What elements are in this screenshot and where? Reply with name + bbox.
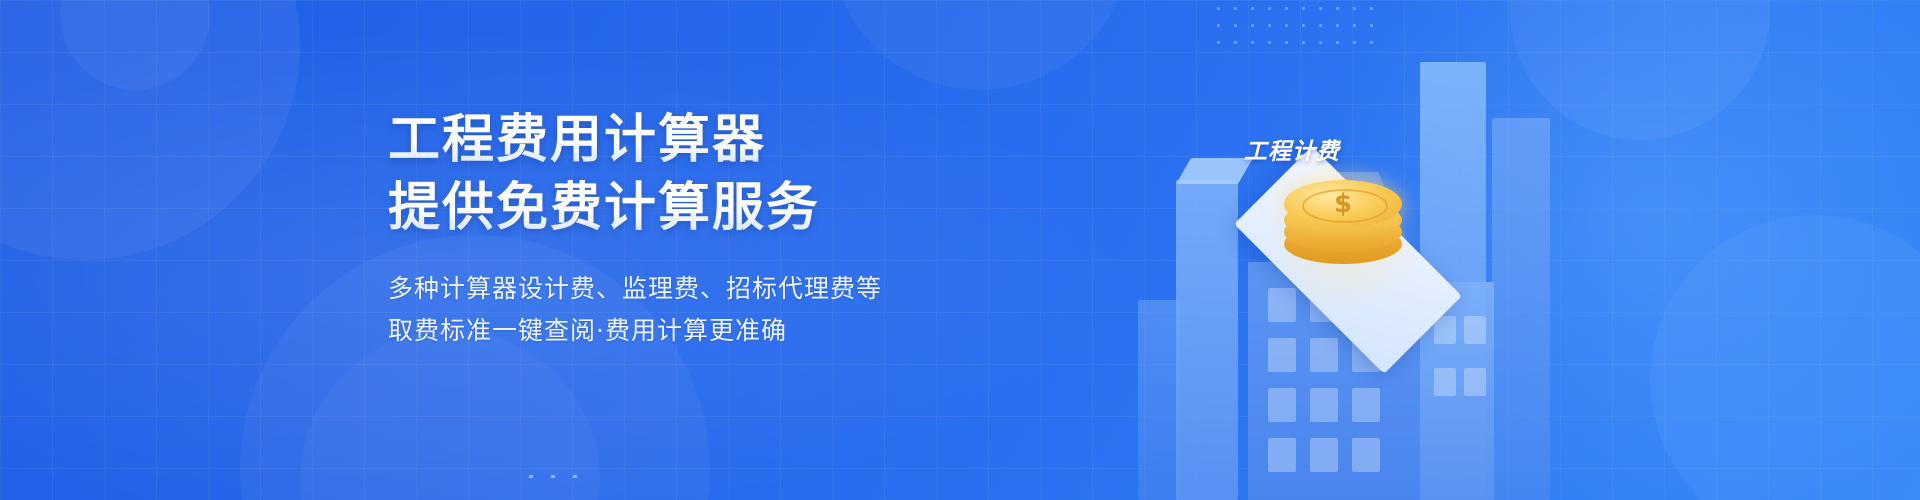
- banner-headline-line-1: 工程费用计算器: [388, 110, 948, 170]
- window-cell: [1464, 316, 1486, 344]
- window-cell: [1352, 388, 1380, 422]
- coin-top-face: $: [1284, 180, 1402, 228]
- currency-symbol-icon: $: [1334, 190, 1352, 218]
- circle-decoration: [1650, 215, 1920, 500]
- banner-subtitle-line-2: 取费标准一键查阅·费用计算更准确: [388, 310, 948, 352]
- circle-decoration: [0, 0, 300, 260]
- window-cell: [1434, 368, 1456, 396]
- window-cell: [1310, 388, 1338, 422]
- window-cell: [1268, 338, 1296, 372]
- dot-row-decoration: [520, 466, 578, 478]
- illustration-badge-label: 工程计费: [1244, 132, 1340, 166]
- promo-banner: 工程费用计算器 提供免费计算服务 多种计算器设计费、监理费、招标代理费等 取费标…: [0, 0, 1920, 500]
- window-cell: [1310, 438, 1338, 472]
- banner-headline-line-2: 提供免费计算服务: [388, 178, 948, 238]
- building-bar-far-right: [1492, 118, 1550, 500]
- banner-subtitle-line-1: 多种计算器设计费、监理费、招标代理费等: [388, 268, 948, 310]
- circle-decoration: [60, 0, 210, 90]
- circle-decoration: [830, 0, 1130, 90]
- window-cell: [1268, 388, 1296, 422]
- banner-illustration: $ 工程计费: [1120, 0, 1640, 500]
- window-cell: [1310, 338, 1338, 372]
- gold-coin-stack-icon: $: [1284, 178, 1404, 288]
- window-cell: [1464, 368, 1486, 396]
- building-bar-far-left: [1138, 300, 1180, 500]
- window-cell: [1352, 438, 1380, 472]
- circle-decoration: [300, 330, 600, 500]
- banner-copy-block: 工程费用计算器 提供免费计算服务 多种计算器设计费、监理费、招标代理费等 取费标…: [388, 110, 948, 352]
- building-bar-left-cap: [1176, 158, 1253, 184]
- window-cell: [1268, 438, 1296, 472]
